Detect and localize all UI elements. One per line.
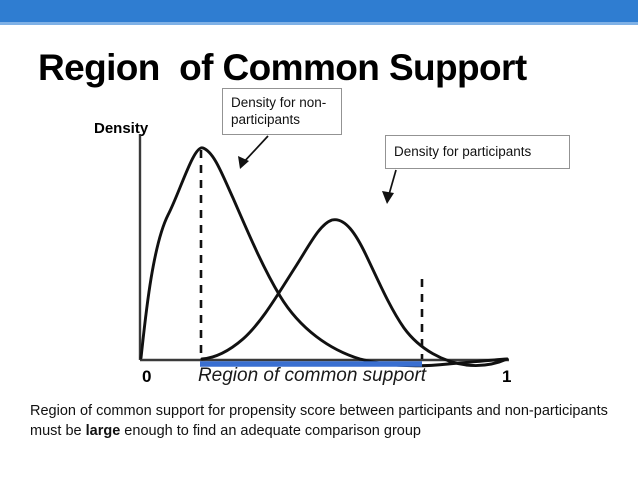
slide-caption: Region of common support for propensity … bbox=[30, 401, 618, 441]
header-band-underline bbox=[0, 22, 638, 25]
curve-non-participants bbox=[141, 148, 507, 366]
common-support-label: Region of common support bbox=[196, 365, 428, 387]
callout-density-non-participants: Density for non-participants bbox=[222, 88, 342, 135]
x-axis-tick-0: 0 bbox=[142, 367, 151, 387]
y-axis-label: Density bbox=[94, 120, 148, 137]
x-axis-tick-1: 1 bbox=[502, 367, 511, 387]
annotation-arrow-participants bbox=[382, 170, 396, 204]
caption-emphasis: large bbox=[86, 423, 121, 439]
annotation-arrow-non-participants bbox=[238, 136, 268, 169]
header-band bbox=[0, 0, 638, 22]
curve-participants bbox=[202, 220, 507, 366]
caption-text-part2: enough to find an adequate comparison gr… bbox=[120, 423, 421, 439]
callout-density-participants: Density for participants bbox=[385, 135, 570, 169]
